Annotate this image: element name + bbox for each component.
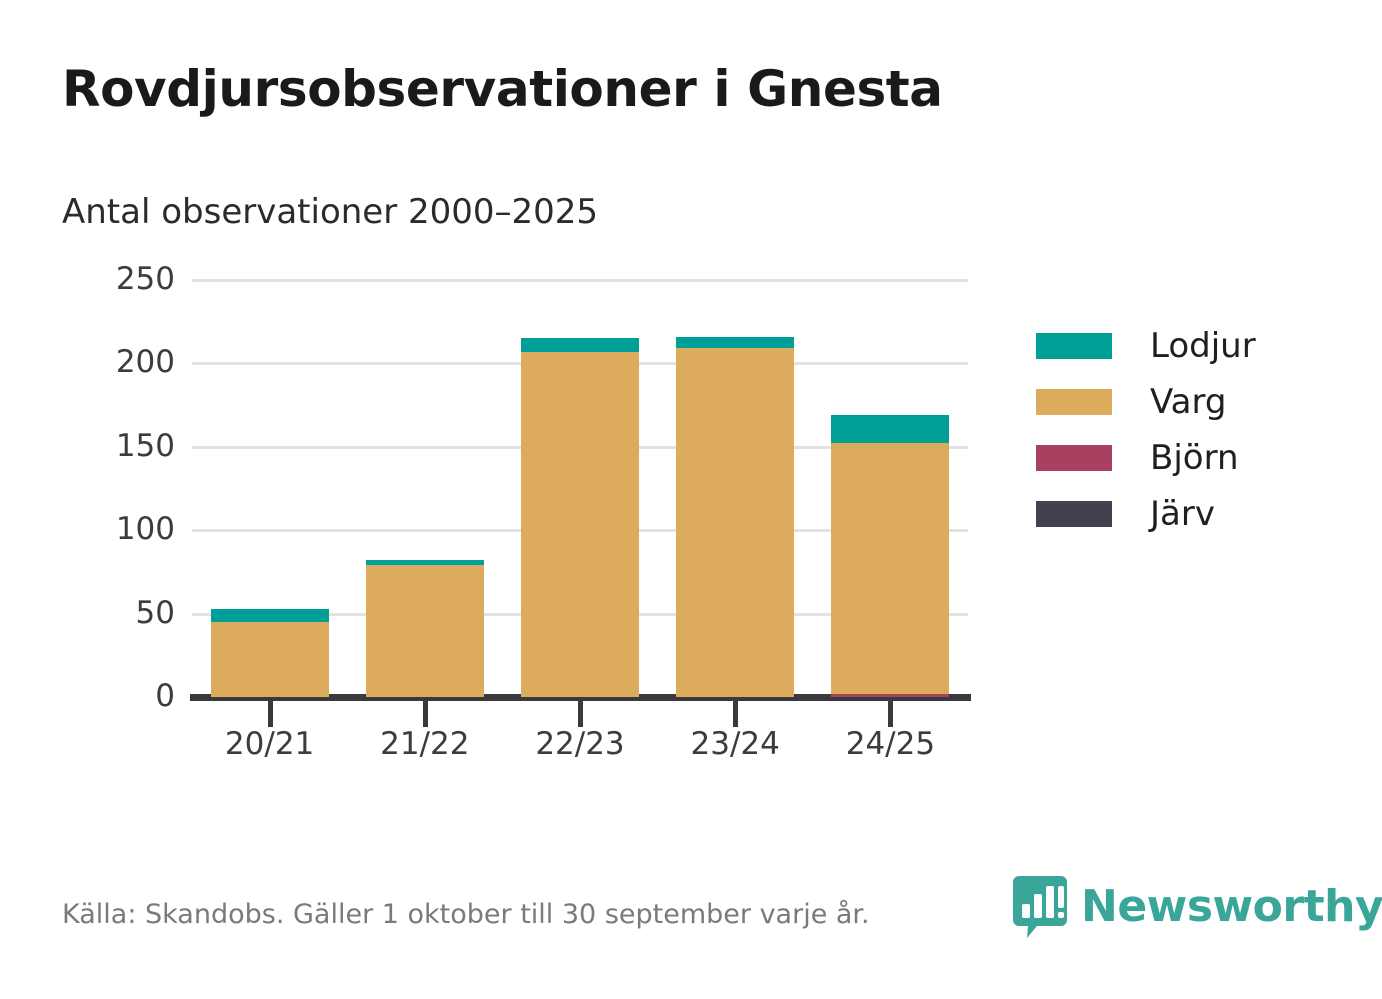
x-axis-tick-mark (423, 701, 428, 727)
bar-segment[interactable] (211, 622, 329, 697)
brand-name: Newsworthy (1081, 885, 1382, 929)
bar-segment[interactable] (211, 609, 329, 622)
y-axis-tick-label: 100 (65, 514, 175, 545)
newsworthy-logo: Newsworthy (1013, 876, 1382, 938)
legend-item[interactable]: Björn (1036, 430, 1346, 486)
y-axis-labels: 050100150200250 (60, 0, 175, 999)
x-axis-tick-mark (268, 701, 273, 727)
newsworthy-bubble-chart-icon (1013, 876, 1067, 938)
chart-page: Rovdjursobservationer i Gnesta Antal obs… (0, 0, 1382, 999)
bar-segment[interactable] (831, 694, 949, 697)
legend-item[interactable]: Lodjur (1036, 318, 1346, 374)
legend-item-label: Björn (1150, 441, 1239, 475)
bar-stack[interactable] (211, 609, 329, 697)
x-axis-tick-mark (578, 701, 583, 727)
legend-item-label: Järv (1150, 497, 1215, 531)
legend-color-swatch (1036, 333, 1112, 359)
y-axis-tick-label: 250 (65, 264, 175, 295)
x-axis-tick-mark (733, 701, 738, 727)
y-axis-tick-label: 150 (65, 431, 175, 462)
y-axis-tick-label: 200 (65, 347, 175, 378)
bar-segment[interactable] (366, 560, 484, 565)
x-axis-tick-mark (888, 701, 893, 727)
legend-color-swatch (1036, 501, 1112, 527)
legend-color-swatch (1036, 445, 1112, 471)
bar-segment[interactable] (676, 348, 794, 697)
legend-color-swatch (1036, 389, 1112, 415)
source-note: Källa: Skandobs. Gäller 1 oktober till 3… (62, 899, 870, 930)
bar-stack[interactable] (366, 560, 484, 697)
bar-segment[interactable] (521, 338, 639, 351)
legend-item[interactable]: Varg (1036, 374, 1346, 430)
bar-segment[interactable] (521, 352, 639, 697)
legend-item-label: Varg (1150, 385, 1226, 419)
bar-stack[interactable] (676, 337, 794, 697)
x-axis-tick-label: 24/25 (813, 726, 968, 763)
y-axis-tick-label: 50 (65, 598, 175, 629)
bar-segment[interactable] (831, 443, 949, 693)
y-axis-tick-label: 0 (65, 681, 175, 712)
x-axis-tick-label: 22/23 (502, 726, 657, 763)
x-axis-tick-label: 21/22 (347, 726, 502, 763)
legend-item-label: Lodjur (1150, 329, 1256, 363)
chart-legend: LodjurVargBjörnJärv (1036, 318, 1346, 542)
x-axis-tick-label: 20/21 (192, 726, 347, 763)
bar-segment[interactable] (366, 565, 484, 697)
bar-segment[interactable] (676, 337, 794, 349)
bar-segment[interactable] (831, 415, 949, 443)
bar-stack[interactable] (521, 338, 639, 697)
bar-series-layer (192, 280, 968, 697)
bar-stack[interactable] (831, 415, 949, 697)
legend-item[interactable]: Järv (1036, 486, 1346, 542)
x-axis-tick-label: 23/24 (658, 726, 813, 763)
